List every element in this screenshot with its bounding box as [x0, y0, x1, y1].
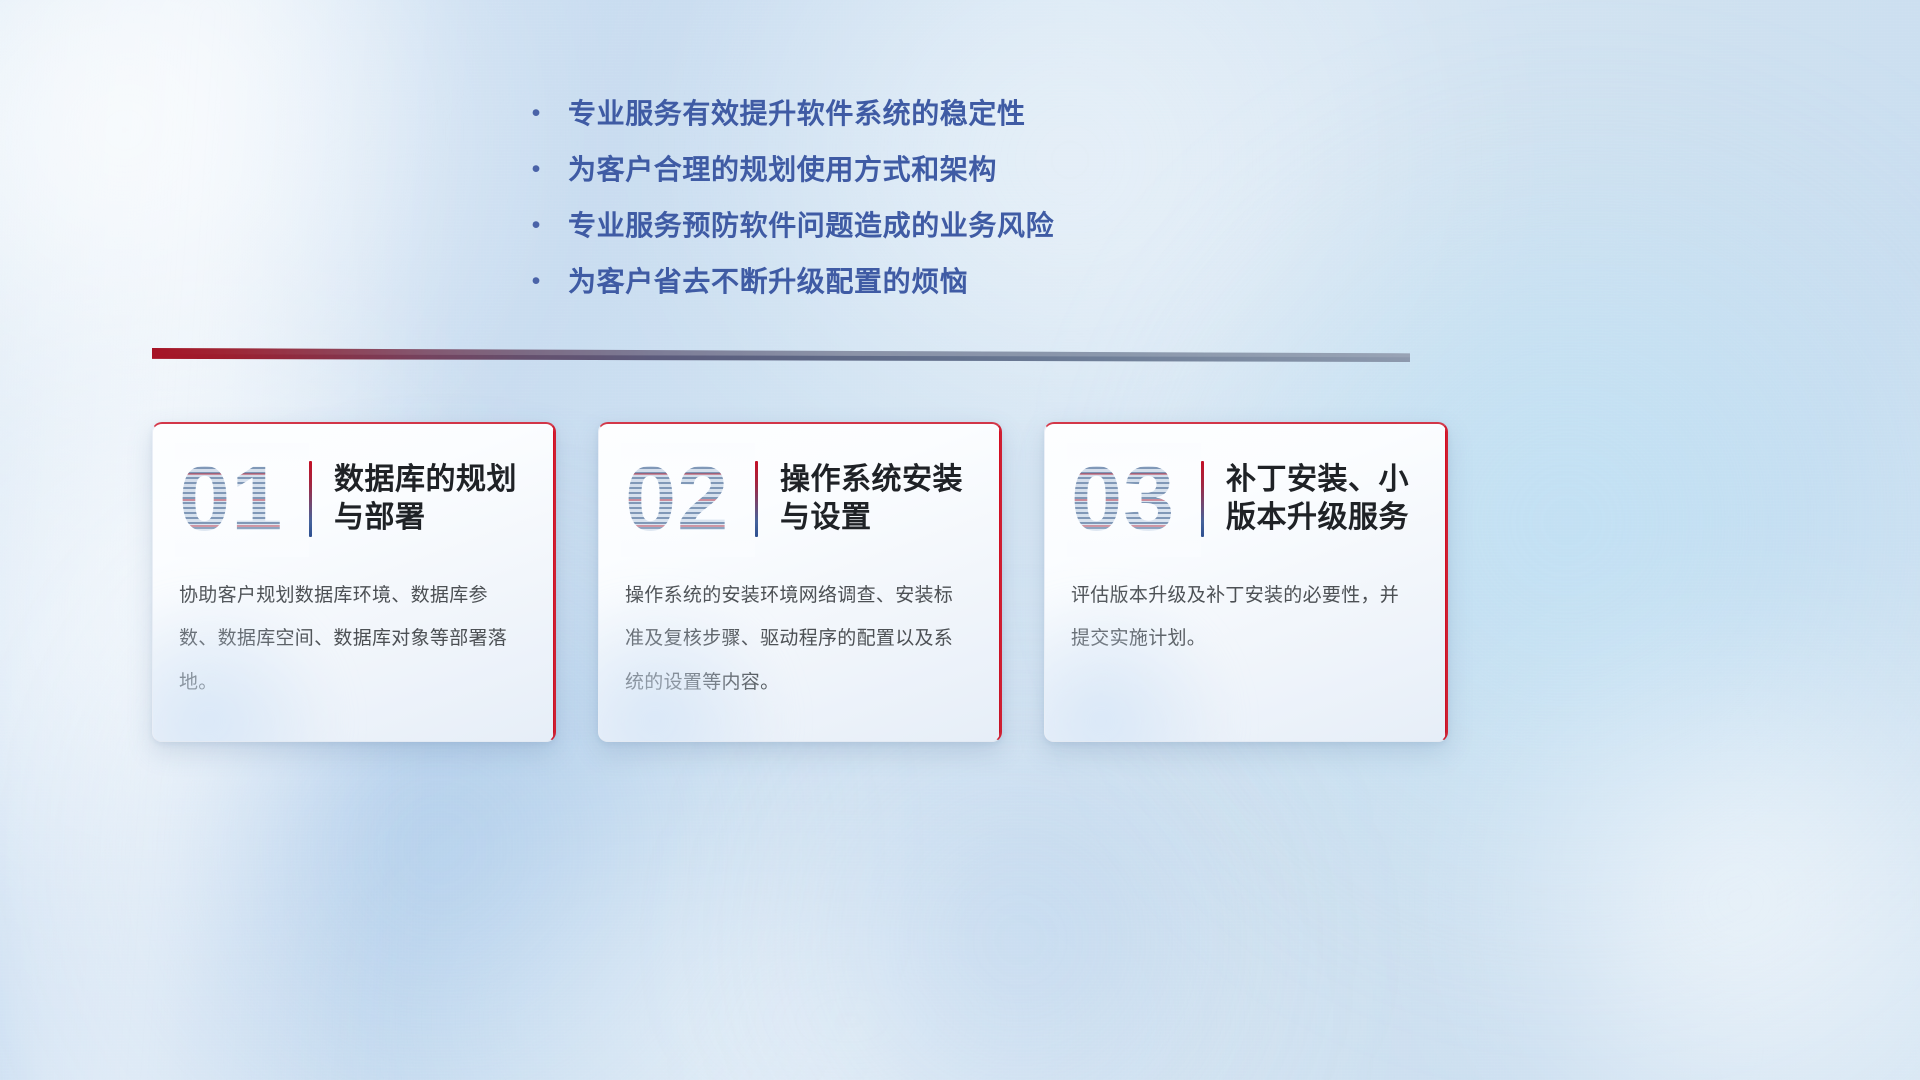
- card-title-divider: [1201, 461, 1204, 537]
- bullet-text: 为客户合理的规划使用方式和架构: [568, 144, 997, 196]
- card-description: 协助客户规划数据库环境、数据库参数、数据库空间、数据库对象等部署落地。: [153, 574, 554, 704]
- card-header: 02 02 操作系统安装 与设置: [599, 424, 1000, 574]
- bullet-dot-icon: •: [530, 101, 542, 126]
- bullet-text: 专业服务预防软件问题造成的业务风险: [568, 200, 1054, 252]
- card-number-accent: 01: [179, 447, 305, 551]
- service-card-03[interactable]: 03 03 补丁安装、小 版本升级服务 评估版本升级及补丁安装的必要性，并提交实…: [1044, 422, 1448, 742]
- list-item: • 为客户省去不断升级配置的烦恼: [530, 256, 1490, 308]
- list-item: • 专业服务有效提升软件系统的稳定性: [530, 88, 1490, 140]
- card-number-accent: 02: [625, 447, 751, 551]
- bullet-dot-icon: •: [530, 213, 542, 238]
- bullet-dot-icon: •: [530, 269, 542, 294]
- card-title-divider: [755, 461, 758, 537]
- bullet-dot-icon: •: [530, 157, 542, 182]
- service-cards: 01 01 数据库的规划 与部署 协助客户规划数据库环境、数据库参数、数据库空间…: [152, 422, 1448, 742]
- section-divider: [152, 348, 1410, 364]
- service-card-01[interactable]: 01 01 数据库的规划 与部署 协助客户规划数据库环境、数据库参数、数据库空间…: [152, 422, 556, 742]
- card-description: 操作系统的安装环境网络调查、安装标准及复核步骤、驱动程序的配置以及系统的设置等内…: [599, 574, 1000, 704]
- card-title: 补丁安装、小 版本升级服务: [1226, 461, 1409, 538]
- card-header: 01 01 数据库的规划 与部署: [153, 424, 554, 574]
- card-description: 评估版本升级及补丁安装的必要性，并提交实施计划。: [1045, 574, 1446, 661]
- card-number-accent: 03: [1071, 447, 1197, 551]
- bullet-text: 为客户省去不断升级配置的烦恼: [568, 256, 968, 308]
- list-item: • 为客户合理的规划使用方式和架构: [530, 144, 1490, 196]
- card-number-graphic: 02 02: [625, 447, 751, 551]
- benefits-list: • 专业服务有效提升软件系统的稳定性 • 为客户合理的规划使用方式和架构 • 专…: [530, 88, 1490, 312]
- card-title: 操作系统安装 与设置: [780, 461, 963, 538]
- slide-content: • 专业服务有效提升软件系统的稳定性 • 为客户合理的规划使用方式和架构 • 专…: [0, 0, 1920, 1080]
- card-title: 数据库的规划 与部署: [334, 461, 517, 538]
- list-item: • 专业服务预防软件问题造成的业务风险: [530, 200, 1490, 252]
- card-header: 03 03 补丁安装、小 版本升级服务: [1045, 424, 1446, 574]
- card-number-graphic: 03 03: [1071, 447, 1197, 551]
- bullet-text: 专业服务有效提升软件系统的稳定性: [568, 88, 1026, 140]
- card-number-graphic: 01 01: [179, 447, 305, 551]
- service-card-02[interactable]: 02 02 操作系统安装 与设置 操作系统的安装环境网络调查、安装标准及复核步骤…: [598, 422, 1002, 742]
- card-title-divider: [309, 461, 312, 537]
